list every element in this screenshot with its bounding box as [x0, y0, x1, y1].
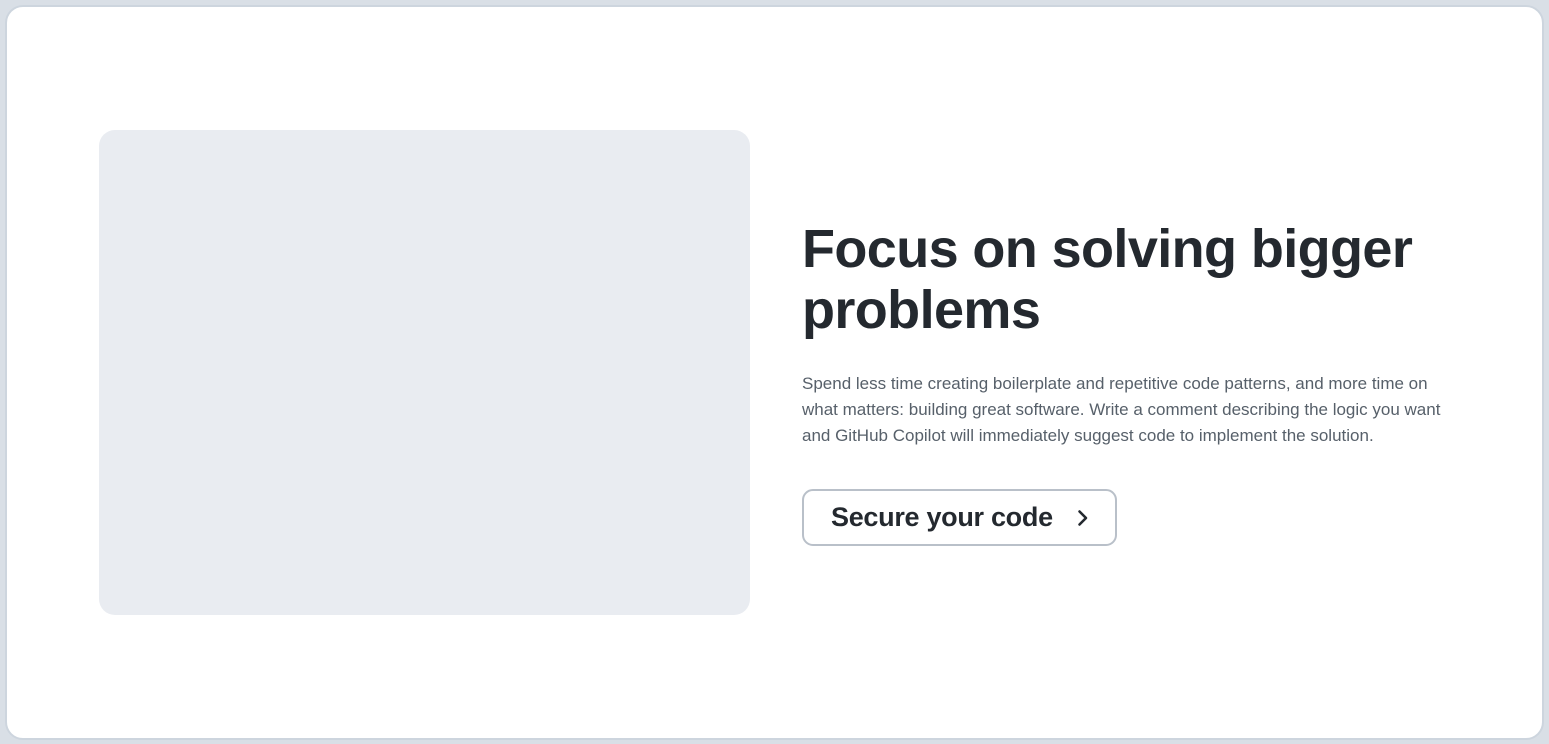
secure-your-code-button[interactable]: Secure your code: [802, 489, 1117, 546]
feature-heading: Focus on solving bigger problems: [802, 219, 1450, 341]
feature-image-placeholder: [99, 130, 750, 615]
feature-text-column: Focus on solving bigger problems Spend l…: [802, 219, 1450, 546]
page-card: Focus on solving bigger problems Spend l…: [5, 5, 1544, 740]
feature-section: Focus on solving bigger problems Spend l…: [7, 7, 1542, 738]
feature-body-text: Spend less time creating boilerplate and…: [802, 341, 1446, 449]
cta-row: Secure your code: [802, 449, 1450, 546]
chevron-right-icon: [1075, 506, 1091, 530]
cta-button-label: Secure your code: [831, 502, 1053, 533]
